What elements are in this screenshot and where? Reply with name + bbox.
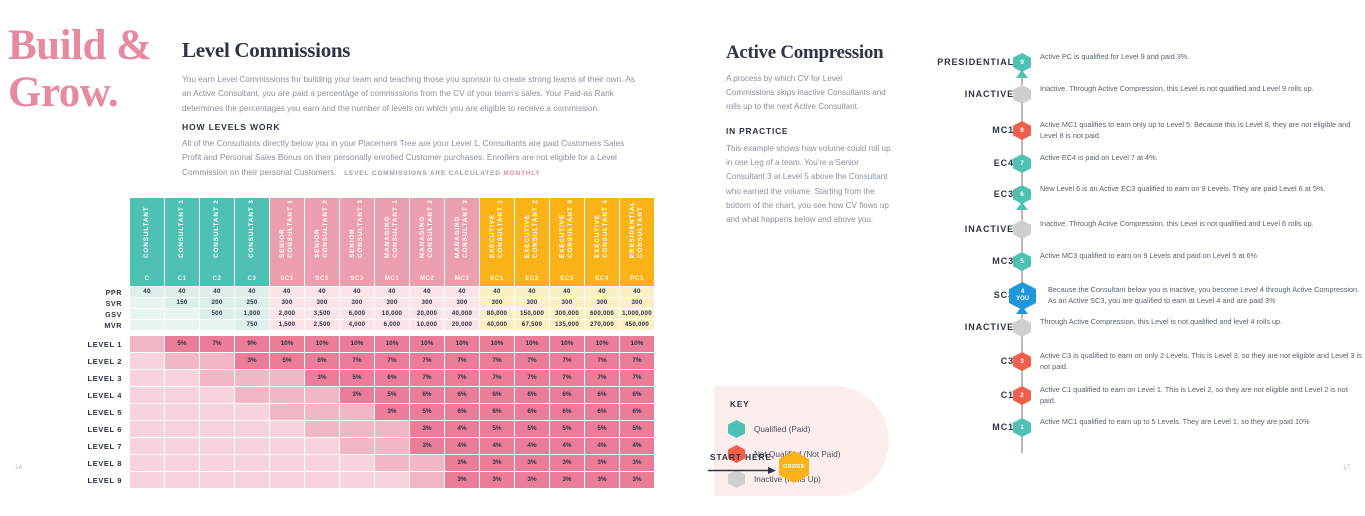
table-cell: 7% <box>200 336 234 352</box>
table-row: LEVEL 33%5%6%7%7%7%7%7%7%7% <box>57 370 654 386</box>
column-header-ec4: EXECUTIVE CONSULTANT 4EC4 <box>585 198 619 286</box>
ladder-rung: MC18Active MC1 qualifies to earn only up… <box>930 120 1365 140</box>
hero-title: Build & Grow. <box>8 22 183 116</box>
column-header-sc1: SENIOR CONSULTANT 1SC1 <box>270 198 304 286</box>
table-cell: 4% <box>515 438 549 454</box>
ladder-rank-label: INACTIVE <box>930 219 1014 239</box>
column-header-label: CONSULTANT 3 <box>235 176 269 264</box>
key-legend-item: Qualified (Paid) <box>728 420 810 438</box>
table-cell: 6% <box>550 387 584 403</box>
table-cell <box>165 472 199 488</box>
table-cell <box>130 455 164 471</box>
table-cell <box>305 438 339 454</box>
column-header-label: EXECUTIVE CONSULTANT 3 <box>550 176 584 264</box>
ladder-rung: SC34YOUBecause the Consultant below you … <box>930 285 1365 305</box>
column-header-mc3: MANAGING CONSULTANT 3MC3 <box>445 198 479 286</box>
table-cell: 7% <box>515 353 549 369</box>
table-cell: 20,000 <box>445 320 479 330</box>
connector-line <box>1021 370 1022 386</box>
table-cell: 40 <box>620 287 654 297</box>
column-header-sc2: SENIOR CONSULTANT 2SC2 <box>305 198 339 286</box>
table-cell: 150,000 <box>515 309 549 319</box>
connector-line <box>1021 238 1022 252</box>
table-cell: 10% <box>340 336 374 352</box>
column-header-abbr: C <box>130 275 164 282</box>
table-cell: 6% <box>375 370 409 386</box>
ladder-node-inactive <box>1013 85 1031 104</box>
ladder-description: New Level 6 is an Active EC3 qualified t… <box>1040 183 1362 194</box>
table-cell: 7% <box>410 353 444 369</box>
table-cell: 7% <box>410 370 444 386</box>
page-title-active-compression: Active Compression <box>726 42 883 64</box>
table-cell <box>235 472 269 488</box>
table-cell: 300 <box>305 298 339 308</box>
table-cell <box>165 370 199 386</box>
table-cell <box>130 320 164 330</box>
table-row: LEVEL 23%5%6%7%7%7%7%7%7%7%7%7% <box>57 353 654 369</box>
table-cell <box>270 370 304 386</box>
table-cell: 4% <box>550 438 584 454</box>
table-cell <box>235 404 269 420</box>
ladder-node-number: 8 <box>1020 127 1024 134</box>
table-spacer <box>57 331 654 335</box>
table-cell <box>200 421 234 437</box>
table-cell: 10% <box>620 336 654 352</box>
table-cell: 4% <box>445 421 479 437</box>
table-cell: 3% <box>445 472 479 488</box>
table-cell: 600,000 <box>585 309 619 319</box>
table-row: LEVEL 83%3%3%3%3%3% <box>57 455 654 471</box>
table-cell: 10% <box>550 336 584 352</box>
table-cell: 3% <box>585 472 619 488</box>
table-cell: 5% <box>550 421 584 437</box>
table-cell: 3% <box>620 472 654 488</box>
table-cell: 3% <box>410 438 444 454</box>
ladder-description: Active MC3 qualified to earn on 9 Levels… <box>1040 250 1362 261</box>
table-cell: 3% <box>585 455 619 471</box>
table-cell: 3% <box>515 472 549 488</box>
table-cell <box>200 455 234 471</box>
ladder-node-7: 7 <box>1013 154 1031 173</box>
table-cell: 2,000 <box>270 309 304 319</box>
table-cell: 300 <box>410 298 444 308</box>
table-cell: 5% <box>270 353 304 369</box>
table-cell: 4% <box>445 438 479 454</box>
ladder-rung: MC11Active MC1 qualified to earn up to 5… <box>930 417 1365 437</box>
column-header-label: SENIOR CONSULTANT 1 <box>270 176 304 264</box>
ladder-rung: MC35Active MC3 qualified to earn on 9 Le… <box>930 251 1365 271</box>
column-header-label: MANAGING CONSULTANT 3 <box>445 176 479 264</box>
table-cell: 300 <box>585 298 619 308</box>
column-header-abbr: C2 <box>200 275 234 282</box>
table-cell <box>165 404 199 420</box>
connector-line <box>1021 436 1022 453</box>
table-cell <box>305 472 339 488</box>
ladder-rung: C12Active C1 qualified to earn on Level … <box>930 385 1365 405</box>
ladder-description: Inactive. Through Active Compression, th… <box>1040 83 1362 94</box>
table-cell <box>165 387 199 403</box>
table-cell: 7% <box>445 353 479 369</box>
table-cell <box>165 320 199 330</box>
table-cell: 3% <box>340 387 374 403</box>
ladder-node-3: 3 <box>1013 352 1031 371</box>
table-cell: 500 <box>200 309 234 319</box>
column-header-abbr: EC1 <box>480 275 514 282</box>
active-compression-diagram: PRESIDENTIAL9Active PC is qualified for … <box>930 0 1365 516</box>
page-title-level-commissions: Level Commissions <box>182 38 350 63</box>
table-cell <box>270 387 304 403</box>
connector-line <box>1021 103 1022 121</box>
table-cell <box>270 421 304 437</box>
column-header-abbr: EC2 <box>515 275 549 282</box>
table-cell <box>270 404 304 420</box>
table-cell <box>235 370 269 386</box>
table-cell <box>130 421 164 437</box>
ladder-node-number: 6 <box>1020 191 1024 198</box>
table-cell <box>270 438 304 454</box>
column-header-ec3: EXECUTIVE CONSULTANT 3EC3 <box>550 198 584 286</box>
connector-line <box>1021 139 1022 154</box>
table-cell <box>305 455 339 471</box>
ladder-rung: INACTIVEInactive. Through Active Compres… <box>930 84 1365 104</box>
table-cell: 1,000,000 <box>620 309 654 319</box>
ladder-rank-label: MC1 <box>930 417 1014 437</box>
row-label-level-5: LEVEL 5 <box>57 404 129 420</box>
ladder-node-number: 2 <box>1020 392 1024 399</box>
column-header-abbr: EC3 <box>550 275 584 282</box>
table-row: MVR7501,5002,5004,0006,00010,00020,00040… <box>57 320 654 330</box>
ladder-node-2: 2 <box>1013 386 1031 405</box>
table-cell: 40 <box>480 287 514 297</box>
table-cell <box>270 472 304 488</box>
table-cell: 7% <box>585 353 619 369</box>
table-cell <box>165 421 199 437</box>
column-header-abbr: SC3 <box>340 275 374 282</box>
column-header-abbr: EC4 <box>585 275 619 282</box>
table-cell <box>340 438 374 454</box>
left-page: Build & Grow. Level Commissions You earn… <box>0 0 700 516</box>
table-cell: 6% <box>515 387 549 403</box>
ladder-description: Active MC1 qualified to earn up to 5 Lev… <box>1040 416 1362 427</box>
table-cell: 9% <box>235 336 269 352</box>
row-label-level-9: LEVEL 9 <box>57 472 129 488</box>
ladder-rank-label: EC3 <box>930 184 1014 204</box>
table-cell: 7% <box>620 353 654 369</box>
table-cell <box>375 455 409 471</box>
table-row: LEVEL 43%5%6%6%6%6%6%6%6% <box>57 387 654 403</box>
table-cell: 3% <box>515 455 549 471</box>
column-header-abbr: SC1 <box>270 275 304 282</box>
column-header-pc1: PRESIDENTIAL CONSULTANTPC1 <box>620 198 654 286</box>
table-cell: 2,500 <box>305 320 339 330</box>
table-cell: 10,000 <box>410 320 444 330</box>
row-label-level-6: LEVEL 6 <box>57 421 129 437</box>
ladder-node-number: 1 <box>1020 424 1024 431</box>
table-cell: 4% <box>480 438 514 454</box>
page-number-left: 16 <box>15 464 22 471</box>
table-cell: 10% <box>515 336 549 352</box>
table-cell <box>130 472 164 488</box>
table-cell: 300 <box>620 298 654 308</box>
table-cell <box>130 353 164 369</box>
table-cell: 7% <box>340 353 374 369</box>
table-cell <box>165 353 199 369</box>
table-cell: 300 <box>550 298 584 308</box>
table-cell: 10% <box>305 336 339 352</box>
table-cell: 6% <box>480 404 514 420</box>
table-cell <box>305 421 339 437</box>
table-cell: 7% <box>375 353 409 369</box>
table-cell <box>200 387 234 403</box>
table-cell: 40 <box>270 287 304 297</box>
ladder-node-number: 5 <box>1020 258 1024 265</box>
ladder-rung: INACTIVEInactive. Through Active Compres… <box>930 219 1365 239</box>
table-row: LEVEL 73%4%4%4%4%4%4% <box>57 438 654 454</box>
row-label-level-4: LEVEL 4 <box>57 387 129 403</box>
key-legend-label: Qualified (Paid) <box>754 425 810 434</box>
table-cell: 40 <box>515 287 549 297</box>
table-cell: 6% <box>585 404 619 420</box>
table-cell <box>200 438 234 454</box>
table-row: SVR1502002503003003003003003003003003003… <box>57 298 654 308</box>
column-header-ec2: EXECUTIVE CONSULTANT 2EC2 <box>515 198 549 286</box>
table-cell: 7% <box>620 370 654 386</box>
column-header-label: EXECUTIVE CONSULTANT 1 <box>480 176 514 264</box>
ladder-rank-label: MC1 <box>930 120 1014 140</box>
ladder-node-5: 5 <box>1013 252 1031 271</box>
ladder-description: Through Active Compression, this Level i… <box>1040 316 1362 327</box>
table-cell: 3% <box>550 472 584 488</box>
table-cell <box>200 370 234 386</box>
table-cell: 300 <box>480 298 514 308</box>
table-cell <box>305 404 339 420</box>
table-cell: 5% <box>165 336 199 352</box>
table-cell: 10% <box>480 336 514 352</box>
table-cell: 4% <box>620 438 654 454</box>
table-cell: 3,500 <box>305 309 339 319</box>
table-cell <box>410 455 444 471</box>
column-header-c: CONSULTANTC <box>130 198 164 286</box>
table-cell: 4,000 <box>340 320 374 330</box>
row-label-level-8: LEVEL 8 <box>57 455 129 471</box>
table-cell <box>200 353 234 369</box>
ladder-description: Active C1 qualified to earn on Level 1. … <box>1040 384 1362 406</box>
ladder-rank-label: C1 <box>930 385 1014 405</box>
row-label-mvr: MVR <box>57 320 129 330</box>
table-cell: 7% <box>585 370 619 386</box>
table-cell <box>235 455 269 471</box>
row-label-level-2: LEVEL 2 <box>57 353 129 369</box>
table-cell: 6% <box>620 404 654 420</box>
table-cell: 40,000 <box>445 309 479 319</box>
table-cell: 40 <box>200 287 234 297</box>
column-header-label: PRESIDENTIAL CONSULTANT <box>620 176 654 264</box>
column-header-label: CONSULTANT 2 <box>200 176 234 264</box>
table-cell <box>375 472 409 488</box>
ladder-rung: EC47Active EC4 is paid on Level 7 at 4%. <box>930 153 1365 173</box>
table-cell <box>235 421 269 437</box>
table-cell: 3% <box>445 455 479 471</box>
column-header-abbr: PC1 <box>620 275 654 282</box>
table-cell: 40 <box>375 287 409 297</box>
ladder-rank-label: INACTIVE <box>930 84 1014 104</box>
table-cell <box>200 472 234 488</box>
table-cell: 3% <box>480 455 514 471</box>
table-cell: 3% <box>235 353 269 369</box>
table-cell: 3% <box>550 455 584 471</box>
table-cell: 10% <box>270 336 304 352</box>
table-cell: 5% <box>620 421 654 437</box>
column-header-abbr: C3 <box>235 275 269 282</box>
table-cell: 10% <box>375 336 409 352</box>
table-row: PPR404040404040404040404040404040 <box>57 287 654 297</box>
connector-line <box>1021 404 1022 418</box>
in-practice-body: This example shows how volume could roll… <box>726 142 891 227</box>
column-header-label: EXECUTIVE CONSULTANT 4 <box>585 176 619 264</box>
row-label-level-7: LEVEL 7 <box>57 438 129 454</box>
column-header-abbr: MC2 <box>410 275 444 282</box>
ladder-rank-label: INACTIVE <box>930 317 1014 337</box>
how-levels-work-heading: HOW LEVELS WORK <box>182 122 280 132</box>
table-cell <box>340 404 374 420</box>
table-cell <box>130 309 164 319</box>
table-cell: 250 <box>235 298 269 308</box>
table-corner <box>57 198 129 286</box>
ladder-rung: INACTIVEThrough Active Compression, this… <box>930 317 1365 337</box>
table-cell: 10,000 <box>375 309 409 319</box>
table-cell: 300,000 <box>550 309 584 319</box>
table-cell: 150 <box>165 298 199 308</box>
table-cell: 300 <box>340 298 374 308</box>
table-cell: 6% <box>585 387 619 403</box>
table-cell: 40 <box>445 287 479 297</box>
ladder-rank-label: PRESIDENTIAL <box>930 52 1014 72</box>
ladder-node-8: 8 <box>1013 121 1031 140</box>
ladder-node-number: 4 <box>1021 289 1024 296</box>
table-cell: 3% <box>410 421 444 437</box>
hexagon-icon <box>728 420 745 438</box>
table-cell <box>305 387 339 403</box>
table-cell: 6,000 <box>375 320 409 330</box>
table-cell: 6% <box>305 353 339 369</box>
key-legend-title: KEY <box>730 400 750 409</box>
table-cell: 7% <box>480 370 514 386</box>
level-commissions-intro: You earn Level Commissions for building … <box>182 72 637 115</box>
table-cell: 40 <box>305 287 339 297</box>
table-cell: 135,000 <box>550 320 584 330</box>
table-cell: 5% <box>410 404 444 420</box>
table-cell <box>130 298 164 308</box>
right-page: Active Compression A process by which CV… <box>700 0 1365 516</box>
column-header-label: SENIOR CONSULTANT 3 <box>340 176 374 264</box>
key-legend: KEY Qualified (Paid)Not Qualified (Not P… <box>714 386 889 496</box>
column-header-label: MANAGING CONSULTANT 2 <box>410 176 444 264</box>
connector-line <box>1021 336 1022 352</box>
table-cell <box>165 455 199 471</box>
ladder-rung: EC36New Level 6 is an Active EC3 qualifi… <box>930 184 1365 204</box>
ladder-node-number: 3 <box>1020 358 1024 365</box>
table-cell: 750 <box>235 320 269 330</box>
row-label-svr: SVR <box>57 298 129 308</box>
start-here-arrow-icon <box>708 467 776 474</box>
column-header-label: CONSULTANT <box>130 176 164 264</box>
ladder-rung: PRESIDENTIAL9Active PC is qualified for … <box>930 52 1365 72</box>
in-practice-heading: IN PRACTICE <box>726 126 788 136</box>
table-cell: 6% <box>550 404 584 420</box>
how-levels-work-body: All of the Consultants directly below yo… <box>182 136 637 181</box>
table-cell: 10% <box>445 336 479 352</box>
table-cell <box>200 404 234 420</box>
column-header-label: MANAGING CONSULTANT 1 <box>375 176 409 264</box>
ladder-description: Because the Consultant below you is inac… <box>1048 284 1362 306</box>
table-cell: 40 <box>340 287 374 297</box>
row-label-level-3: LEVEL 3 <box>57 370 129 386</box>
table-cell: 5% <box>585 421 619 437</box>
table-row: LEVEL 63%4%5%5%5%5%5% <box>57 421 654 437</box>
table-cell: 1,000 <box>235 309 269 319</box>
table-row: GSV5001,0002,0003,5006,00010,00020,00040… <box>57 309 654 319</box>
table-cell <box>200 320 234 330</box>
table-cell <box>340 421 374 437</box>
ladder-node-you-label: YOU <box>1016 296 1029 303</box>
page-number-right: 17 <box>1343 464 1350 471</box>
table-cell: 7% <box>480 353 514 369</box>
table-cell: 3% <box>375 404 409 420</box>
column-header-label: SENIOR CONSULTANT 2 <box>305 176 339 264</box>
table-cell: 3% <box>480 472 514 488</box>
ladder-description: Active MC1 qualifies to earn only up to … <box>1040 119 1362 141</box>
table-row: LEVEL 53%5%6%6%6%6%6%6% <box>57 404 654 420</box>
ladder-description: Inactive. Through Active Compression, th… <box>1040 218 1362 229</box>
table-cell: 7% <box>550 353 584 369</box>
row-label-level-1: LEVEL 1 <box>57 336 129 352</box>
table-cell: 7% <box>515 370 549 386</box>
connector-line <box>1021 172 1022 185</box>
table-cell: 200 <box>200 298 234 308</box>
table-cell: 40 <box>235 287 269 297</box>
table-cell: 450,000 <box>620 320 654 330</box>
table-cell <box>130 404 164 420</box>
table-cell: 300 <box>375 298 409 308</box>
table-cell <box>270 455 304 471</box>
table-cell: 7% <box>445 370 479 386</box>
table-cell: 67,500 <box>515 320 549 330</box>
ladder-rank-label: MC3 <box>930 251 1014 271</box>
table-cell <box>340 472 374 488</box>
table-cell: 10% <box>410 336 444 352</box>
row-label-gsv: GSV <box>57 309 129 319</box>
column-header-ec1: EXECUTIVE CONSULTANT 1EC1 <box>480 198 514 286</box>
start-here-label: START HERE <box>710 452 772 462</box>
table-cell: 40 <box>130 287 164 297</box>
column-header-sc3: SENIOR CONSULTANT 3SC3 <box>340 198 374 286</box>
table-cell: 80,000 <box>480 309 514 319</box>
table-cell: 40 <box>410 287 444 297</box>
table-cell <box>235 438 269 454</box>
ladder-description: Active C3 is qualified to earn on only 2… <box>1040 350 1362 372</box>
ladder-rank-label: SC3 <box>930 285 1014 305</box>
table-cell: 40,000 <box>480 320 514 330</box>
column-header-mc1: MANAGING CONSULTANT 1MC1 <box>375 198 409 286</box>
ladder-node-number: 7 <box>1020 160 1024 167</box>
table-cell: 20,000 <box>410 309 444 319</box>
level-commissions-table: CONSULTANTCCONSULTANT 1C1CONSULTANT 2C2C… <box>56 197 655 489</box>
table-cell: 270,000 <box>585 320 619 330</box>
table-cell <box>340 455 374 471</box>
table-cell: 40 <box>165 287 199 297</box>
table-cell: 3% <box>620 455 654 471</box>
table-row: LEVEL 15%7%9%10%10%10%10%10%10%10%10%10%… <box>57 336 654 352</box>
